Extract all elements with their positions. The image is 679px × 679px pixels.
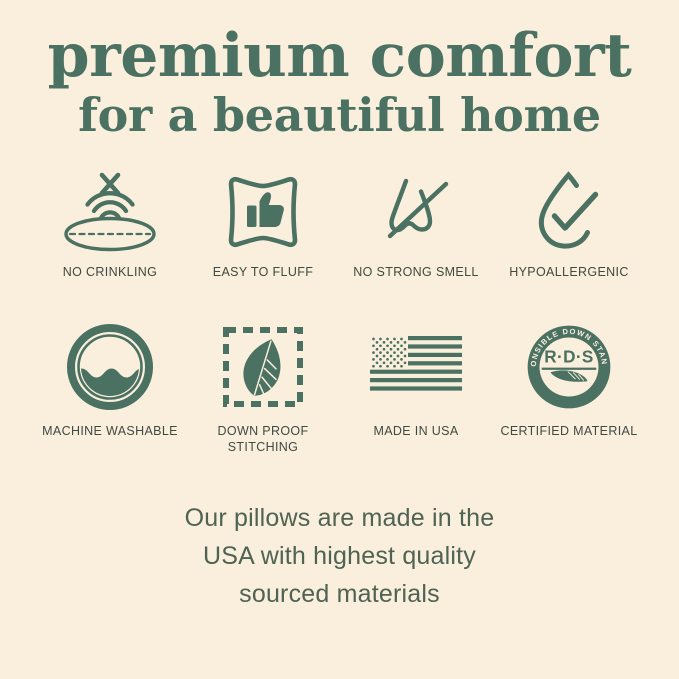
feature-label: MACHINE WASHABLE [42, 423, 178, 439]
down-proof-stitching-icon [221, 322, 305, 412]
feature-label: NO STRONG SMELL [353, 264, 478, 280]
made-in-usa-icon [370, 322, 462, 412]
feature-machine-washable: MACHINE WASHABLE [36, 322, 184, 455]
feature-label: NO CRINKLING [63, 264, 158, 280]
feature-label: MADE IN USA [373, 423, 458, 439]
feature-hypoallergenic: HYPOALLERGENIC [495, 171, 643, 280]
headline-line-2: for a beautiful home [0, 87, 679, 145]
footer-copy: Our pillows are made in the USA with hig… [0, 499, 679, 613]
feature-row-2: MACHINE WASHABLE [0, 322, 679, 455]
headline-block: premium comfort for a beautiful home [0, 0, 679, 145]
feature-grid: NO CRINKLING EASY TO FLUFF [0, 171, 679, 455]
feature-made-in-usa: MADE IN USA [342, 322, 490, 455]
feature-certified-material: RESPONSIBLE DOWN STANDARD CERTIFIED R·D·… [495, 322, 643, 455]
machine-washable-icon [66, 322, 154, 412]
footer-copy-line-2: USA with highest quality [0, 537, 679, 575]
rds-center-text: R·D·S [544, 346, 593, 366]
feature-no-strong-smell: NO STRONG SMELL [342, 171, 490, 280]
feature-label: DOWN PROOF STITCHING [218, 423, 309, 455]
feature-no-crinkling: NO CRINKLING [36, 171, 184, 280]
easy-to-fluff-icon [223, 171, 303, 253]
feature-down-proof-stitching: DOWN PROOF STITCHING [189, 322, 337, 455]
footer-copy-line-1: Our pillows are made in the [0, 499, 679, 537]
hypoallergenic-icon [529, 171, 609, 253]
certified-material-icon: RESPONSIBLE DOWN STANDARD CERTIFIED R·D·… [525, 322, 613, 412]
feature-easy-to-fluff: EASY TO FLUFF [189, 171, 337, 280]
feature-row-1: NO CRINKLING EASY TO FLUFF [0, 171, 679, 280]
feature-label: CERTIFIED MATERIAL [500, 423, 637, 439]
footer-copy-line-3: sourced materials [0, 575, 679, 613]
headline-line-1: premium comfort [0, 26, 679, 87]
promotional-infographic: premium comfort for a beautiful home [0, 0, 679, 679]
feature-label: EASY TO FLUFF [213, 264, 313, 280]
no-crinkling-icon [58, 171, 162, 253]
no-strong-smell-icon [374, 171, 458, 253]
feature-label: HYPOALLERGENIC [509, 264, 629, 280]
